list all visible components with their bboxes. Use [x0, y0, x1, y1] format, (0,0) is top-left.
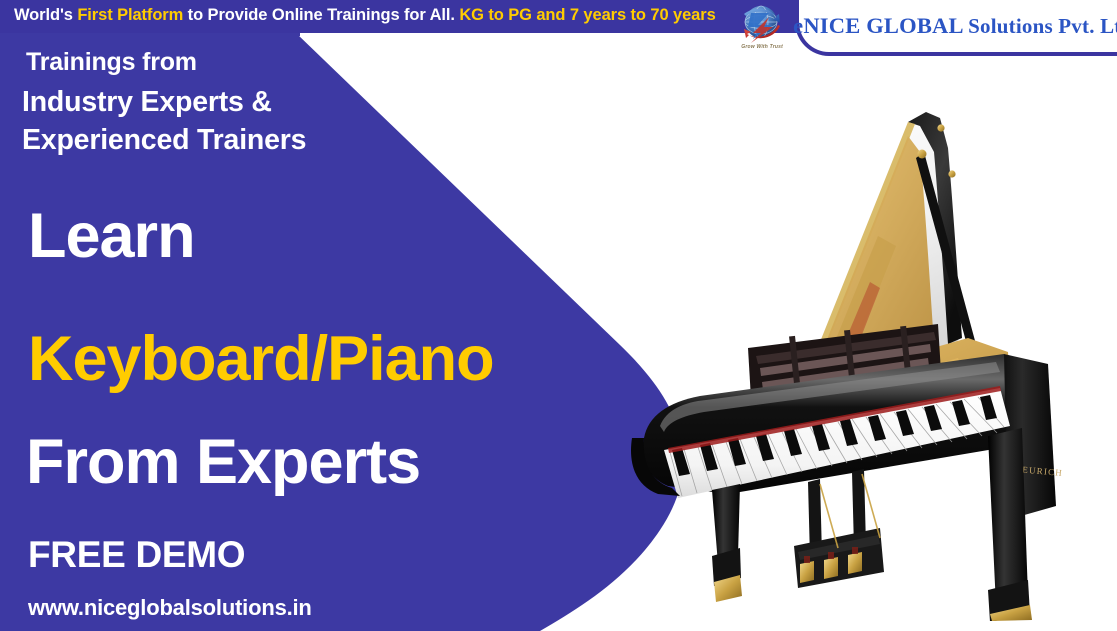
headline-source: From Experts — [26, 431, 420, 494]
top-announcement-text: World's First Platform to Provide Online… — [14, 0, 716, 33]
subheadline-line-2: Experienced Trainers — [22, 122, 306, 160]
logo-company-suffix: Solutions Pvt. Ltd. — [968, 14, 1117, 38]
kicker-text: Trainings from — [26, 48, 197, 77]
subheadline-line-1: Industry Experts & — [22, 84, 306, 122]
strip-text-highlight2: KG to PG and 7 years to 70 years — [459, 6, 715, 24]
headline-subject: Keyboard/Piano — [28, 328, 494, 391]
website-url[interactable]: www.niceglobalsolutions.in — [28, 595, 312, 621]
promotional-banner: World's First Platform to Provide Online… — [0, 0, 1117, 631]
globe-arrows-icon: Grow With Trust — [739, 3, 785, 49]
logo-tagline: Grow With Trust — [739, 44, 785, 50]
strip-text-highlight1: First Platform — [77, 6, 183, 24]
company-logo-panel[interactable]: Grow With Trust eNICE GLOBAL Solutions P… — [795, 0, 1117, 56]
strip-text-part2: to Provide Online Trainings for All. — [183, 6, 459, 24]
headline-verb: Learn — [28, 205, 195, 268]
grand-piano-photo: FEURICH — [608, 86, 1108, 621]
free-demo-callout[interactable]: FREE DEMO — [28, 534, 245, 576]
subheadline-text: Industry Experts & Experienced Trainers — [22, 84, 306, 160]
logo-company-name: eNICE GLOBAL — [793, 13, 964, 38]
strip-text-part1: World's — [14, 6, 77, 24]
logo-wordmark: eNICE GLOBAL Solutions Pvt. Ltd. — [793, 15, 1117, 38]
